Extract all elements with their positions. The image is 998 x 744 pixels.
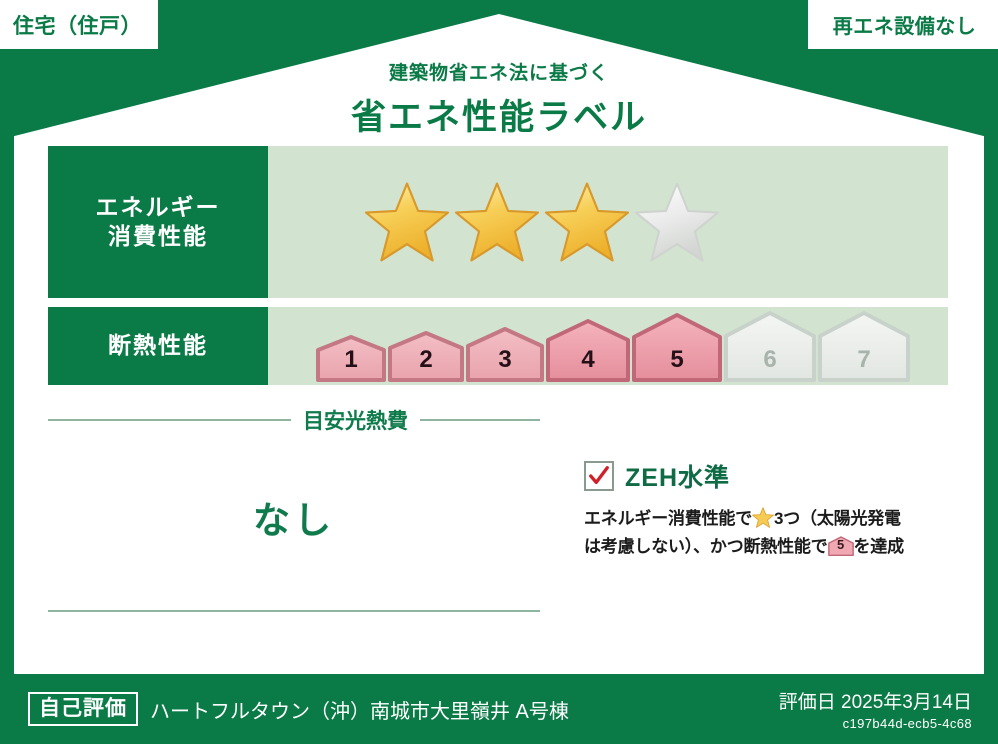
insulation-level-6-number: 6 (723, 346, 817, 374)
evaluation-type-badge: 自己評価 (28, 692, 138, 726)
utility-cost-heading-label: 目安光熱費 (303, 405, 408, 435)
insulation-performance-label-panel: 断熱性能 (48, 307, 268, 385)
utility-cost-value: なし (48, 490, 540, 544)
zeh-checkbox[interactable] (584, 461, 614, 491)
star-rating (364, 181, 720, 263)
house-icon-inline: 5 (828, 535, 854, 557)
zeh-desc-part1: エネルギー消費性能で (584, 509, 752, 528)
footer-left: 自己評価 ハートフルタウン（沖）南城市大里嶺井 A号棟 (0, 692, 569, 726)
energy-performance-label-line2: 消費性能 (108, 222, 208, 251)
evaluation-id: c197b44d-ecb5-4c68 (779, 716, 972, 731)
insulation-level-7-number: 7 (817, 346, 911, 374)
tab-renewable-energy: 再エネ設備なし (805, 0, 998, 52)
insulation-performance-label: 断熱性能 (108, 331, 208, 360)
star-icon-empty-4 (634, 181, 720, 263)
label-content: エネルギー 消費性能 (48, 146, 948, 612)
insulation-performance-value-panel: 1 2 3 (268, 307, 948, 385)
utility-cost-bottom-rule (48, 610, 540, 612)
property-name: ハートフルタウン（沖）南城市大里嶺井 A号棟 (150, 695, 569, 724)
zeh-title: ZEH水準 (625, 458, 730, 494)
house-icon-inline-number: 5 (828, 534, 854, 555)
title-subtitle: 建築物省エネ法に基づく (0, 58, 998, 85)
star-icon-filled-2 (454, 181, 540, 263)
insulation-level-2-number: 2 (387, 346, 465, 374)
energy-performance-label-line1: エネルギー (96, 193, 221, 222)
insulation-level-1-number: 1 (315, 346, 387, 374)
energy-performance-label: 住宅（住戸） 再エネ設備なし 建築物省エネ法に基づく 省エネ性能ラベル エネルギ… (0, 0, 998, 744)
energy-performance-value-panel (268, 146, 948, 298)
tab-building-type: 住宅（住戸） (0, 0, 161, 52)
utility-cost-heading: 目安光熱費 (48, 405, 540, 435)
insulation-level-3-number: 3 (465, 346, 545, 374)
heading-rule-left (48, 419, 291, 421)
zeh-desc-part2: は考慮しない）、かつ断熱性能で (584, 537, 828, 556)
heading-rule-right (420, 419, 540, 421)
footer-right: 評価日 2025年3月14日 c197b44d-ecb5-4c68 (779, 687, 998, 731)
star-icon-inline (752, 507, 774, 528)
evaluation-date: 評価日 2025年3月14日 (779, 687, 972, 714)
insulation-performance-row: 断熱性能 1 (48, 307, 948, 385)
title-main: 省エネ性能ラベル (0, 89, 998, 140)
page-title: 建築物省エネ法に基づく 省エネ性能ラベル (0, 58, 998, 140)
insulation-level-7: 7 (817, 310, 911, 382)
energy-performance-label-panel: エネルギー 消費性能 (48, 146, 268, 298)
insulation-level-1: 1 (315, 334, 387, 382)
star-icon-filled-1 (364, 181, 450, 263)
star-icon-filled-3 (544, 181, 630, 263)
tab-renewable-energy-label: 再エネ設備なし (833, 10, 977, 39)
insulation-level-2: 2 (387, 330, 465, 382)
insulation-level-4: 4 (545, 318, 631, 382)
zeh-description: エネルギー消費性能で3つ（太陽光発電 は考慮しない）、かつ断熱性能で5を達成 (584, 505, 992, 560)
utility-cost-section: 目安光熱費 なし (48, 405, 540, 612)
insulation-level-4-number: 4 (545, 346, 631, 374)
insulation-level-5-number: 5 (631, 346, 723, 374)
insulation-level-3: 3 (465, 326, 545, 382)
insulation-level-6: 6 (723, 310, 817, 382)
energy-performance-row: エネルギー 消費性能 (48, 146, 948, 298)
insulation-level-scale: 1 2 3 (315, 310, 911, 382)
check-icon (588, 465, 610, 487)
zeh-desc-star-count: 3つ（太陽光発電 (774, 509, 901, 528)
tab-building-type-label: 住宅（住戸） (13, 10, 142, 40)
insulation-level-5: 5 (631, 312, 723, 382)
zeh-header: ZEH水準 (584, 458, 992, 494)
label-footer: 自己評価 ハートフルタウン（沖）南城市大里嶺井 A号棟 評価日 2025年3月1… (0, 674, 998, 744)
zeh-section: ZEH水準 エネルギー消費性能で3つ（太陽光発電 は考慮しない）、かつ断熱性能で… (584, 458, 992, 560)
zeh-desc-part3: を達成 (854, 537, 904, 556)
